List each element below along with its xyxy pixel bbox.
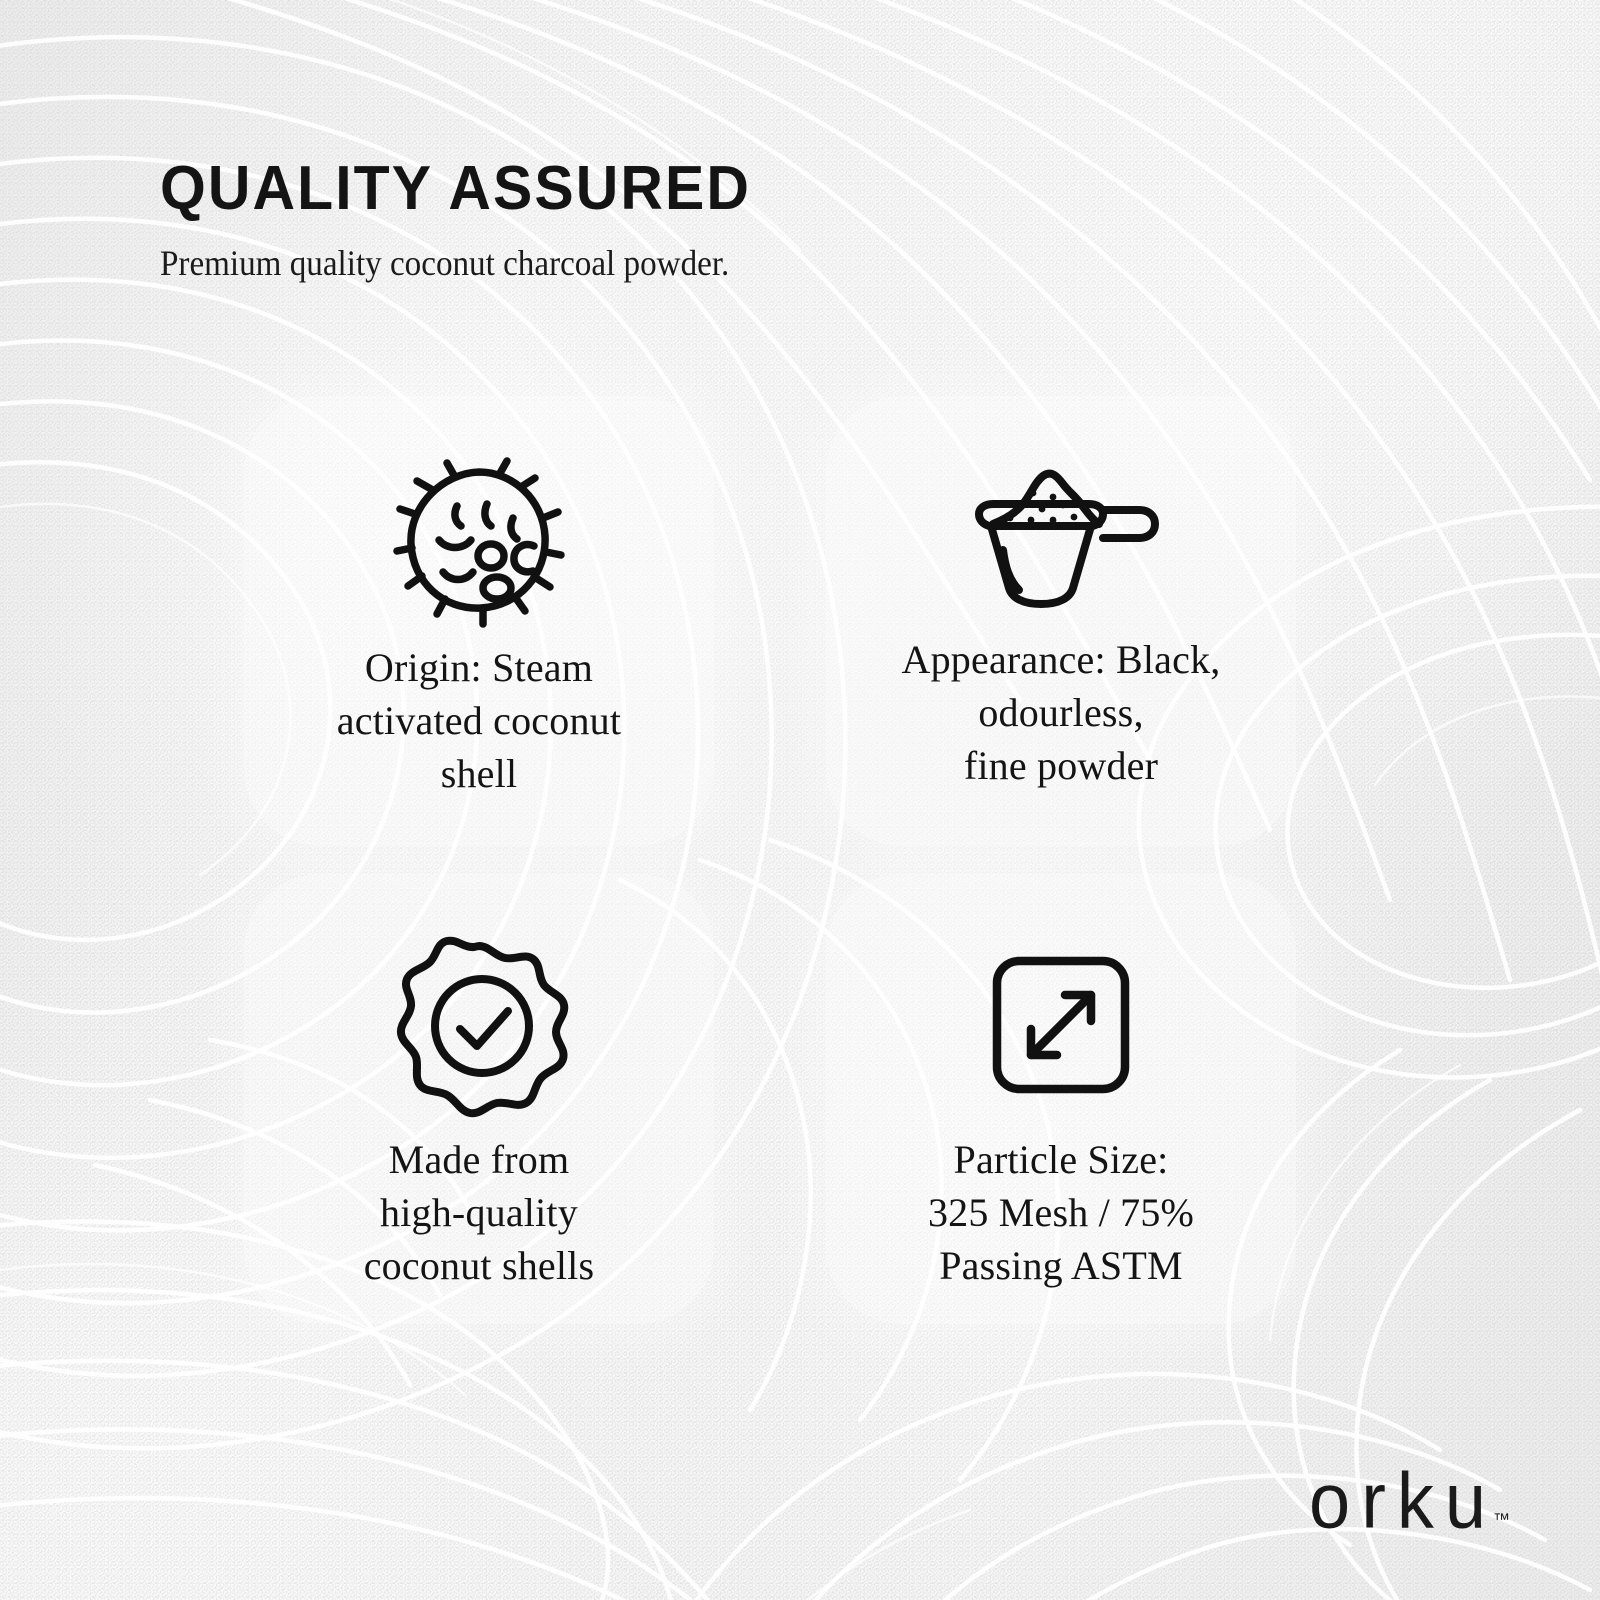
label-line: activated coconut bbox=[337, 695, 621, 748]
label-line: Passing ASTM bbox=[928, 1240, 1194, 1293]
label-line: Origin: Steam bbox=[337, 642, 621, 695]
label-line: coconut shells bbox=[364, 1240, 595, 1293]
label-line: 325 Mesh / 75% bbox=[928, 1187, 1194, 1240]
label-line: shell bbox=[337, 748, 621, 801]
brand-wordmark: orku bbox=[1309, 1470, 1497, 1534]
feature-card-particle-size-label: Particle Size: 325 Mesh / 75% Passing AS… bbox=[910, 1134, 1212, 1292]
coconut-icon bbox=[395, 454, 563, 626]
quality-badge-check-icon bbox=[394, 932, 564, 1118]
feature-card-quality-label: Made from high-quality coconut shells bbox=[346, 1134, 613, 1292]
feature-card-appearance-label: Appearance: Black, odourless, fine powde… bbox=[884, 634, 1239, 792]
quality-assured-infographic: QUALITY ASSURED Premium quality coconut … bbox=[0, 0, 1600, 1600]
expand-arrows-square-icon bbox=[991, 932, 1131, 1118]
feature-card-origin: Origin: Steam activated coconut shell bbox=[244, 396, 714, 846]
label-line: Appearance: Black, bbox=[902, 634, 1221, 687]
label-line: high-quality bbox=[364, 1187, 595, 1240]
feature-card-quality: Made from high-quality coconut shells bbox=[244, 874, 714, 1324]
header: QUALITY ASSURED Premium quality coconut … bbox=[160, 158, 1260, 284]
measuring-scoop-powder-icon bbox=[963, 446, 1159, 618]
feature-card-particle-size: Particle Size: 325 Mesh / 75% Passing AS… bbox=[826, 874, 1296, 1324]
page-title: QUALITY ASSURED bbox=[160, 158, 1205, 220]
brand-logo: orku ™ bbox=[1309, 1473, 1510, 1534]
label-line: fine powder bbox=[902, 740, 1221, 793]
label-line: Made from bbox=[364, 1134, 595, 1187]
label-line: odourless, bbox=[902, 687, 1221, 740]
feature-card-origin-label: Origin: Steam activated coconut shell bbox=[319, 642, 639, 800]
feature-card-grid: Origin: Steam activated coconut shell bbox=[244, 396, 1296, 1324]
page-subtitle: Premium quality coconut charcoal powder. bbox=[160, 242, 1172, 284]
label-line: Particle Size: bbox=[928, 1134, 1194, 1187]
feature-card-appearance: Appearance: Black, odourless, fine powde… bbox=[826, 396, 1296, 846]
